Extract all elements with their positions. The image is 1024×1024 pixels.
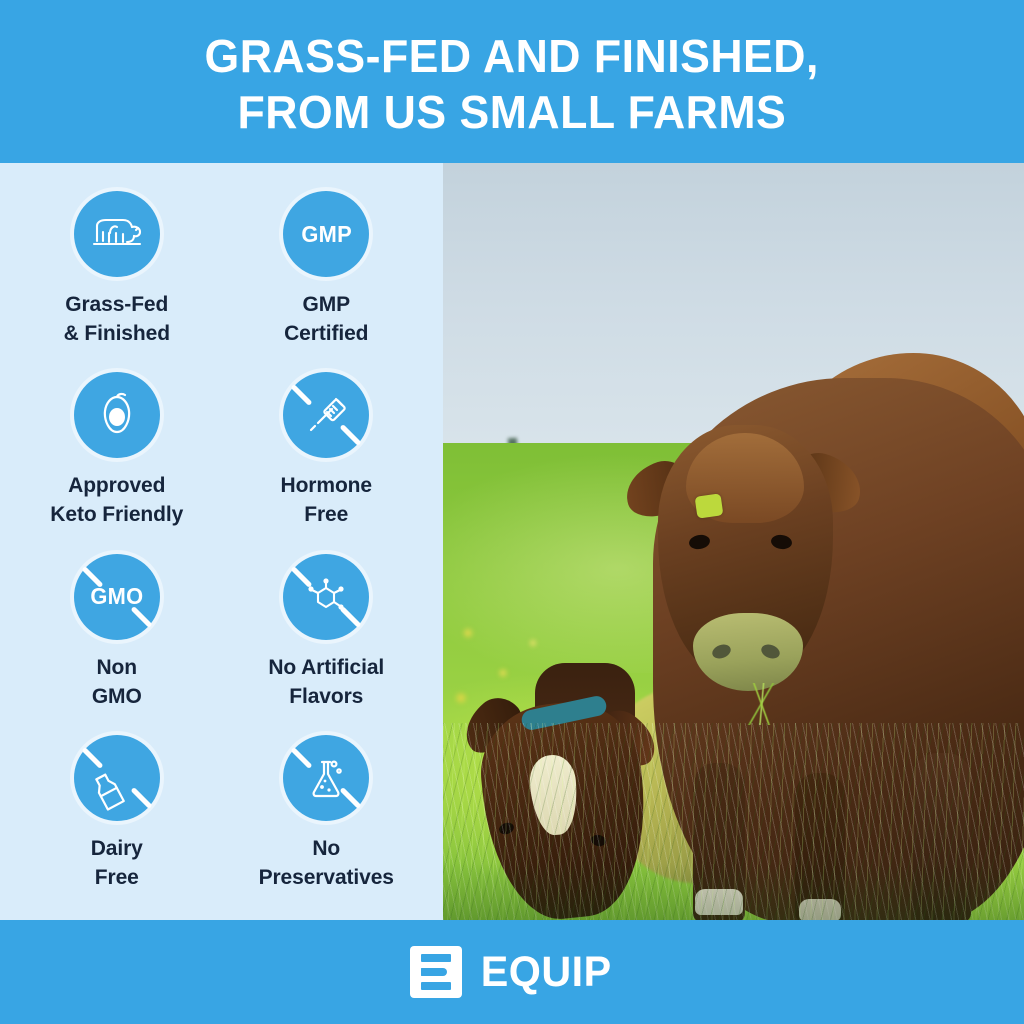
- avocado-icon: [74, 372, 160, 458]
- equip-wordmark: EQUIP: [481, 951, 612, 994]
- header-title-line-1: GRASS-FED AND FINISHED,: [205, 28, 819, 84]
- header-title-line-2: FROM US SMALL FARMS: [238, 84, 787, 140]
- footer-banner: EQUIP: [0, 920, 1024, 1024]
- gmo-text-icon: GMO: [74, 554, 160, 640]
- milk-bottle-icon: [74, 735, 160, 821]
- certification-badge-grid: Grass-Fed & Finished GMP GMP Certified: [0, 163, 443, 920]
- badge-label: Non GMO: [92, 653, 142, 711]
- photo-cow-ear-tag: [695, 493, 724, 518]
- pasture-cows-photo: [443, 163, 1024, 920]
- no-slash-top-left: [81, 747, 103, 769]
- badge-hormone-free: Hormone Free: [222, 362, 432, 543]
- badge-approved-keto-friendly: Approved Keto Friendly: [12, 362, 222, 543]
- badge-label: Grass-Fed & Finished: [64, 290, 170, 348]
- body-area: Grass-Fed & Finished GMP GMP Certified: [0, 163, 1024, 920]
- badge-label: Dairy Free: [91, 834, 143, 892]
- header-banner: GRASS-FED AND FINISHED, FROM US SMALL FA…: [0, 0, 1024, 163]
- badge-no-artificial-flavors: No Artificial Flavors: [222, 544, 432, 725]
- badge-label: No Artificial Flavors: [268, 653, 384, 711]
- gmo-icon-text: GMO: [90, 585, 143, 608]
- equip-bars-mark-icon: [410, 946, 462, 998]
- photo-foreground-shadow: [443, 863, 1024, 920]
- molecule-icon: [283, 554, 369, 640]
- syringe-icon: [283, 372, 369, 458]
- badge-non-gmo: GMO Non GMO: [12, 544, 222, 725]
- logo-bar-middle: [421, 968, 447, 976]
- logo-bar-top: [421, 954, 451, 962]
- badge-no-preservatives: No Preservatives: [222, 725, 432, 906]
- photo-grass-in-mouth: [729, 683, 799, 725]
- gmp-text-icon: GMP: [283, 191, 369, 277]
- badge-label: No Preservatives: [259, 834, 394, 892]
- badge-gmp-certified: GMP GMP Certified: [222, 181, 432, 362]
- flask-icon: [283, 735, 369, 821]
- badge-label: Approved Keto Friendly: [50, 471, 183, 529]
- gmp-icon-text: GMP: [301, 223, 352, 246]
- equip-logo: EQUIP: [410, 946, 614, 998]
- logo-bar-bottom: [421, 982, 451, 990]
- badge-label: GMP Certified: [284, 290, 368, 348]
- marketing-infographic: GRASS-FED AND FINISHED, FROM US SMALL FA…: [0, 0, 1024, 1024]
- badge-grass-fed-and-finished: Grass-Fed & Finished: [12, 181, 222, 362]
- badge-dairy-free: Dairy Free: [12, 725, 222, 906]
- badge-label: Hormone Free: [281, 471, 372, 529]
- cow-icon: [74, 191, 160, 277]
